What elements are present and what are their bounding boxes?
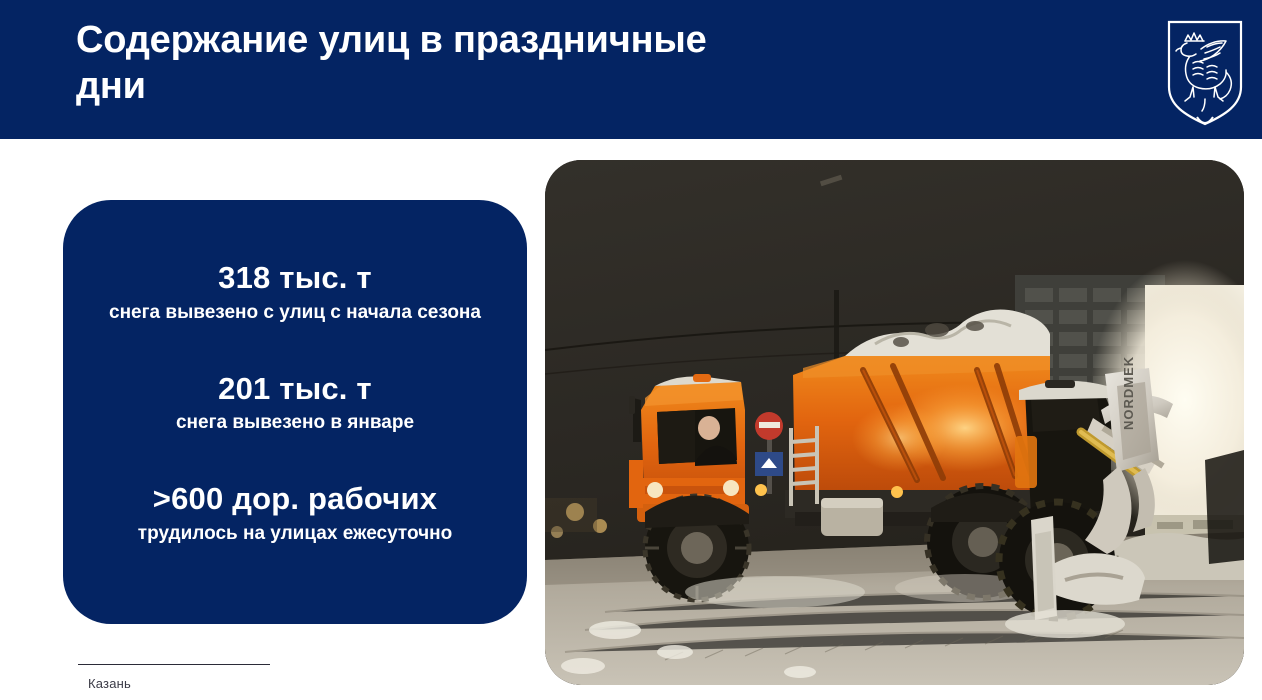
header-band: Содержание улиц в праздничные дни xyxy=(0,0,1262,139)
stat-block-snow-season: 318 тыс. т снега вывезено с улиц с начал… xyxy=(89,260,501,325)
footer-divider xyxy=(78,664,270,665)
stat-value: 201 тыс. т xyxy=(89,371,501,408)
stat-label: трудилось на улицах ежесуточно xyxy=(89,521,501,546)
stat-block-road-workers: >600 дор. рабочих трудилось на улицах еж… xyxy=(89,481,501,546)
slide-root: Содержание улиц в праздничные дни xyxy=(0,0,1262,700)
stat-label: снега вывезено с улиц с начала сезона xyxy=(89,300,501,325)
footer-city-label: Казань xyxy=(88,676,131,691)
night-snow-removal-photo: NORDMEK xyxy=(545,160,1244,685)
svg-text:NORDMEK: NORDMEK xyxy=(1121,356,1136,430)
kazan-coat-of-arms-zilant-shield-icon xyxy=(1163,17,1247,129)
stat-label: снега вывезено в январе xyxy=(89,410,501,435)
page-title: Содержание улиц в праздничные дни xyxy=(76,17,1086,110)
stats-card: 318 тыс. т снега вывезено с улиц с начал… xyxy=(63,200,527,624)
stat-value: >600 дор. рабочих xyxy=(89,481,501,518)
stat-value: 318 тыс. т xyxy=(89,260,501,297)
stat-block-snow-january: 201 тыс. т снега вывезено в январе xyxy=(89,371,501,436)
